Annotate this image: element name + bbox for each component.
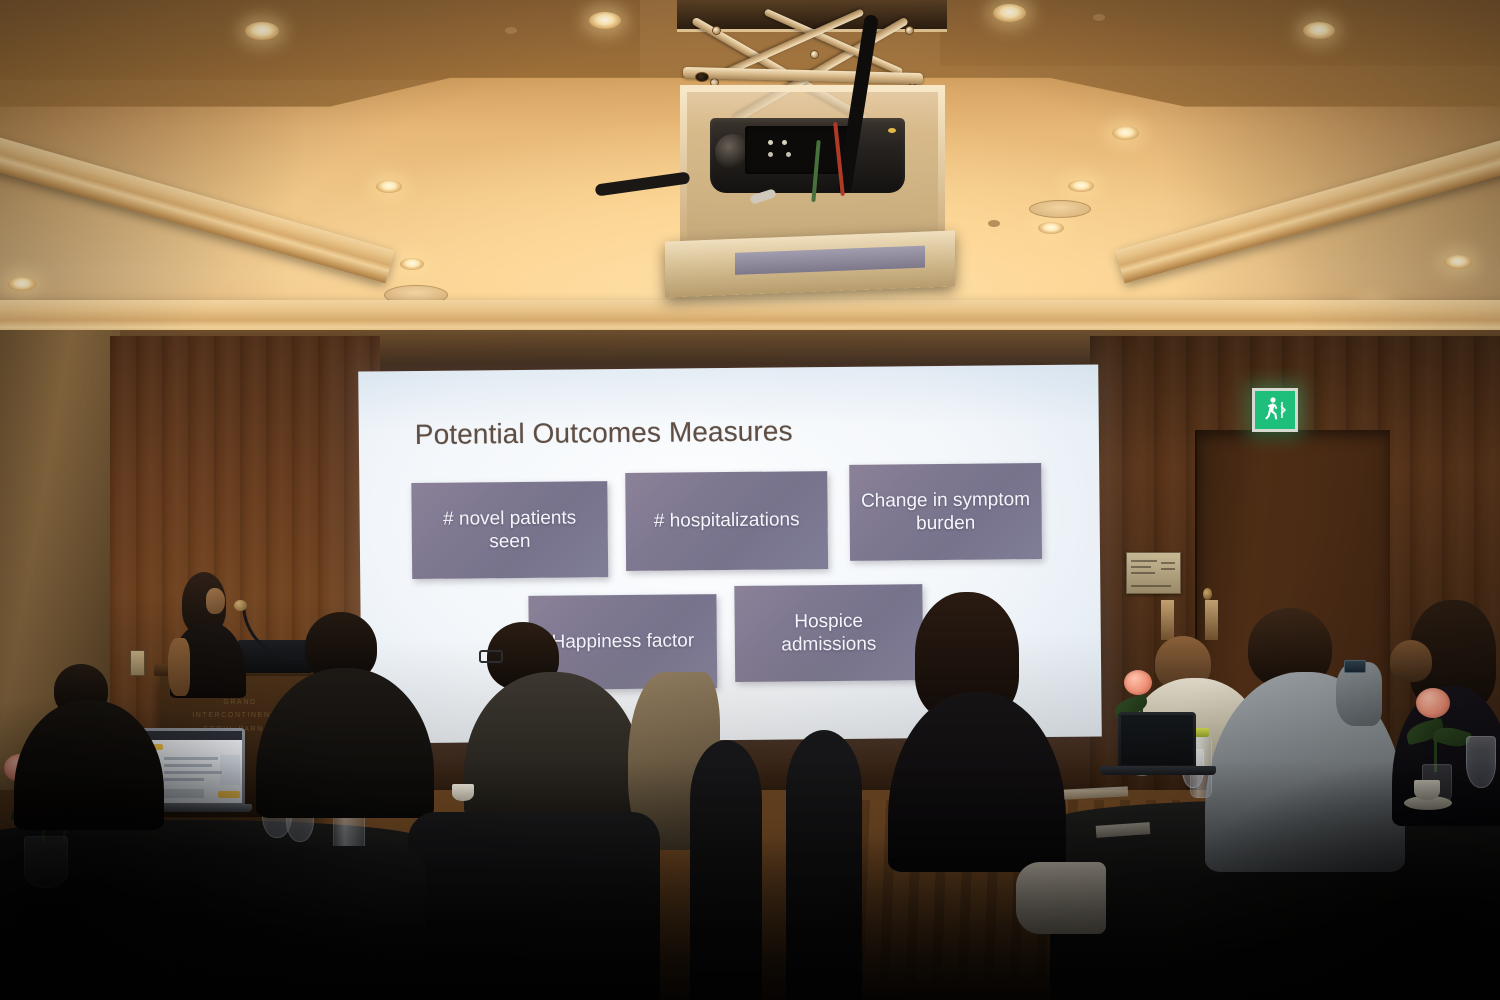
running-man-icon (1260, 395, 1290, 425)
projector-body (710, 118, 905, 193)
carnation-flower (1416, 688, 1450, 718)
downlight-icon (8, 277, 36, 291)
ceiling-soffit-left (0, 0, 640, 80)
outcome-box-novel-patients: # novel patients seen (411, 481, 608, 579)
downlight-icon (1068, 180, 1094, 192)
placard-line (1131, 566, 1151, 568)
downlight-icon (1303, 22, 1335, 39)
smoke-detector-icon (1093, 14, 1105, 21)
placard-line (1131, 572, 1155, 574)
presenter-face (206, 588, 225, 614)
placard-line (1161, 562, 1175, 564)
laptop-screen[interactable] (1121, 715, 1193, 765)
projector-lift-panel (665, 230, 955, 297)
downlight-icon (400, 258, 424, 270)
downlight-icon (1112, 126, 1139, 140)
smoke-detector-icon (505, 27, 517, 34)
scissor-pivot (810, 50, 819, 59)
downlight-icon (245, 22, 279, 40)
smoke-detector-icon (988, 220, 1000, 227)
projector-led-icon (768, 140, 773, 145)
projector-led-icon (786, 152, 791, 157)
outcome-box-symptom-burden: Change in symptom burden (849, 463, 1042, 561)
ceiling-shade-right (1040, 70, 1500, 332)
wall-sconce (1205, 600, 1218, 640)
placard-line (1131, 585, 1171, 587)
projector-lift-panel-reflection (735, 246, 925, 275)
downlight-icon (589, 12, 621, 29)
downlight-icon (1038, 222, 1064, 234)
placard-line (1161, 568, 1175, 570)
ceiling-vent-icon (1029, 200, 1091, 218)
projector-led-icon (782, 140, 787, 145)
downlight-icon (376, 180, 402, 193)
audience-center-1-glasses-icon (479, 650, 503, 663)
smartphone[interactable] (1344, 660, 1366, 673)
ceiling-projector (655, 0, 965, 295)
exit-sign (1252, 388, 1298, 432)
door-knob-icon[interactable] (1203, 588, 1212, 600)
projector-cage-hole (695, 72, 709, 82)
presenter-arm (168, 638, 190, 696)
bottom-vignette (0, 760, 1500, 1000)
outcome-box-hospice-admissions: Hospice admissions (734, 584, 923, 682)
microphone-head-icon (234, 600, 247, 611)
wall-outlet-icon (130, 650, 145, 676)
slide-title: Potential Outcomes Measures (415, 415, 793, 451)
evacuation-map-placard (1126, 552, 1181, 594)
downlight-icon (993, 4, 1026, 22)
scissor-pivot (712, 26, 721, 35)
scissor-pivot (905, 26, 914, 35)
outcome-box-hospitalizations: # hospitalizations (625, 471, 828, 571)
conference-room-scene: Potential Outcomes Measures # novel pati… (0, 0, 1500, 1000)
projector-led-icon (768, 152, 773, 157)
wall-sconce (1161, 600, 1174, 640)
placard-line (1131, 560, 1157, 562)
carnation-flower (1124, 670, 1152, 695)
downlight-icon (1444, 255, 1472, 269)
projector-status-led-icon (888, 128, 896, 133)
